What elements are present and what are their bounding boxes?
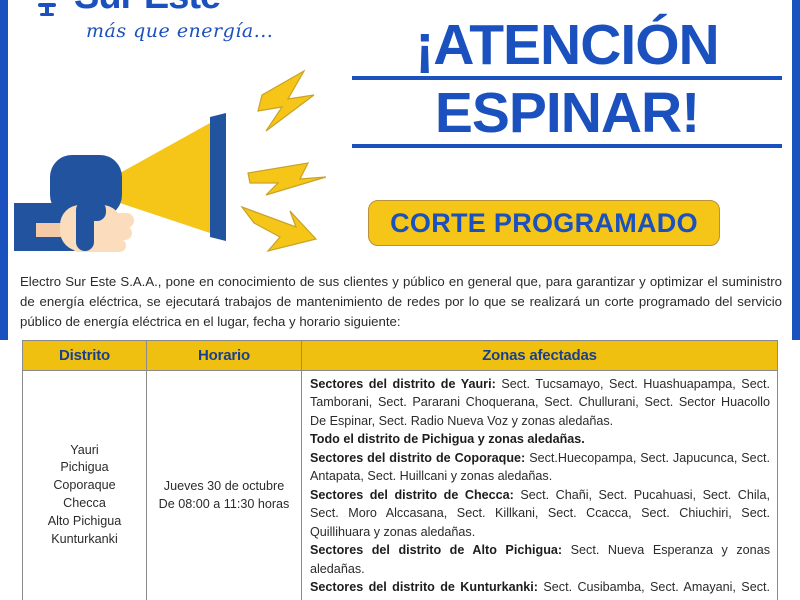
zone-label: Sectores del distrito de Checca: (310, 488, 514, 502)
text-line: Yauri (27, 442, 142, 460)
zone-entry: Todo el distrito de Pichigua y zonas ale… (310, 430, 770, 448)
cell-distritos: YauriPichiguaCoporaqueCheccaAlto Pichigu… (23, 371, 147, 600)
zone-label: Sectores del distrito de Alto Pichigua: (310, 543, 562, 557)
zone-entry: Sectores del distrito de Coporaque: Sect… (310, 449, 770, 486)
logo-tagline: más que energía... (86, 20, 273, 42)
column-header-horario: Horario (147, 341, 302, 371)
corte-programado-badge: CORTE PROGRAMADO (368, 200, 720, 246)
text-line: Kunturkanki (27, 531, 142, 549)
electro-sur-este-logo-icon (24, 0, 70, 18)
headline-line-2: ESPINAR! (352, 86, 782, 148)
text-line: Jueves 30 de octubre (151, 477, 297, 495)
right-blue-bar (792, 0, 800, 340)
headline: ¡ATENCIÓN ESPINAR! (352, 18, 782, 148)
headline-line-1: ¡ATENCIÓN (352, 18, 782, 80)
text-line: Alto Pichigua (27, 513, 142, 531)
text-line: Coporaque (27, 477, 142, 495)
zone-label: Sectores del distrito de Coporaque: (310, 451, 525, 465)
column-header-zonas: Zonas afectadas (302, 341, 778, 371)
cell-horario: Jueves 30 de octubreDe 08:00 a 11:30 hor… (147, 371, 302, 600)
zone-entry: Sectores del distrito de Alto Pichigua: … (310, 541, 770, 578)
table-row: YauriPichiguaCoporaqueCheccaAlto Pichigu… (23, 371, 778, 600)
megaphone-illustration (14, 55, 344, 255)
zone-entry: Sectores del distrito de Checca: Sect. C… (310, 486, 770, 541)
zone-entry: Sectores del distrito de Yauri: Sect. Tu… (310, 375, 770, 430)
zone-entry: Sectores del distrito de Kunturkanki: Se… (310, 578, 770, 600)
intro-paragraph: Electro Sur Este S.A.A., pone en conocim… (20, 272, 782, 332)
text-line: Pichigua (27, 459, 142, 477)
outage-table: Distrito Horario Zonas afectadas YauriPi… (22, 340, 778, 600)
zone-label: Sectores del distrito de Kunturkanki: (310, 580, 538, 594)
zone-label: Todo el distrito de Pichigua y zonas ale… (310, 432, 585, 446)
text-line: De 08:00 a 11:30 horas (151, 495, 297, 513)
cell-zonas: Sectores del distrito de Yauri: Sect. Tu… (302, 371, 778, 600)
zone-label: Sectores del distrito de Yauri: (310, 377, 496, 391)
left-blue-bar (0, 0, 8, 340)
company-logo: Sur Este (24, 0, 220, 18)
column-header-distrito: Distrito (23, 341, 147, 371)
notice-poster: Sur Este más que energía... ¡ATENCIÓN ES… (0, 0, 800, 600)
text-line: Checca (27, 495, 142, 513)
table-header-row: Distrito Horario Zonas afectadas (23, 341, 778, 371)
logo-wordmark: Sur Este (74, 0, 220, 18)
